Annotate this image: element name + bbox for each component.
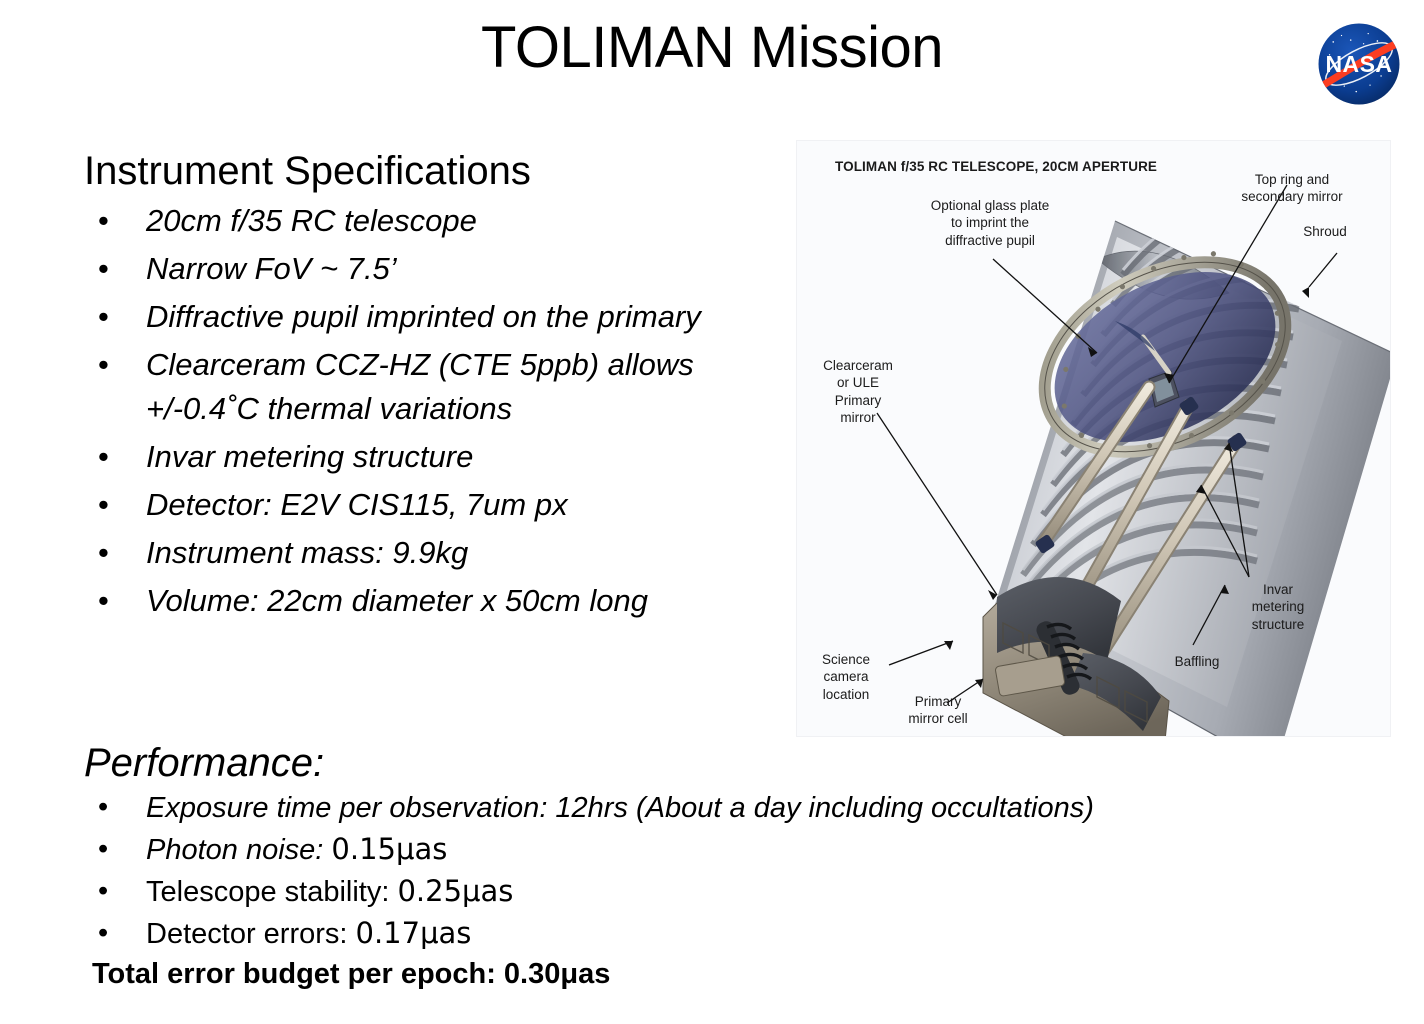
list-item: • Exposure time per observation: 12hrs (… xyxy=(84,787,1264,828)
list-item-label: Narrow FoV ~ 7.5’ xyxy=(146,251,397,286)
total-error-budget: Total error budget per epoch: 0.30μas xyxy=(84,958,1264,991)
list-item-label: 20cm f/35 RC telescope xyxy=(146,203,477,238)
bullet-glyph: • xyxy=(98,579,109,623)
bullet-glyph: • xyxy=(98,295,109,339)
bullet-glyph: • xyxy=(98,871,108,911)
label-primary-mirror-cell: Primary mirror cell xyxy=(893,693,983,728)
list-item: • Photon noise: 0.15μas xyxy=(84,829,1264,870)
list-item: • Volume: 22cm diameter x 50cm long xyxy=(84,579,744,623)
bullet-glyph: • xyxy=(98,787,108,827)
list-item: • Invar metering structure xyxy=(84,435,744,479)
bullet-glyph: • xyxy=(98,435,109,479)
bullet-glyph: • xyxy=(98,199,109,243)
specs-bullet-list: • 20cm f/35 RC telescope • Narrow FoV ~ … xyxy=(84,199,744,623)
list-item-label: Detector errors: xyxy=(146,918,356,950)
bullet-glyph: • xyxy=(98,247,109,291)
label-shroud: Shroud xyxy=(1285,223,1365,240)
bullet-glyph: • xyxy=(98,483,109,527)
bullet-glyph: • xyxy=(98,343,109,387)
list-item-label: Detector: E2V CIS115, 7um px xyxy=(146,487,568,522)
performance-section: Performance: • Exposure time per observa… xyxy=(84,742,1264,991)
telescope-figure-panel: TOLIMAN f/35 RC TELESCOPE, 20CM APERTURE xyxy=(796,140,1391,737)
list-item-label: Exposure time per observation: 12hrs (Ab… xyxy=(146,792,1094,824)
list-item: • Clearceram CCZ-HZ (CTE 5ppb) allows +/… xyxy=(84,343,744,431)
performance-bullet-list: • Exposure time per observation: 12hrs (… xyxy=(84,787,1264,954)
label-baffling: Baffling xyxy=(1157,653,1237,670)
list-item: • Detector errors: 0.17μas xyxy=(84,913,1264,954)
performance-heading: Performance: xyxy=(84,742,1264,785)
list-item-label: Clearceram CCZ-HZ (CTE 5ppb) allows +/-0… xyxy=(146,347,694,426)
list-item: • Narrow FoV ~ 7.5’ xyxy=(84,247,744,291)
slide-root: TOLIMAN Mission xyxy=(0,0,1424,1024)
list-item-label: Volume: 22cm diameter x 50cm long xyxy=(146,583,648,618)
list-item-label: Telescope stability: xyxy=(146,876,397,908)
list-item-label: Photon noise: xyxy=(146,834,331,866)
label-optional-glass-plate: Optional glass plate to imprint the diff… xyxy=(915,197,1065,249)
instrument-specifications-section: Instrument Specifications • 20cm f/35 RC… xyxy=(84,150,744,627)
label-invar-metering-structure: Invar metering structure xyxy=(1237,581,1319,633)
page-title: TOLIMAN Mission xyxy=(0,18,1424,79)
list-item-value: 0.15μas xyxy=(331,832,447,866)
list-item: • Telescope stability: 0.25μas xyxy=(84,871,1264,912)
label-primary-mirror: Clearceram or ULE Primary mirror xyxy=(813,357,903,426)
nasa-wordmark: NASA xyxy=(1325,51,1392,77)
label-top-ring-secondary-mirror: Top ring and secondary mirror xyxy=(1227,171,1357,206)
list-item-label: Instrument mass: 9.9kg xyxy=(146,535,468,570)
bullet-glyph: • xyxy=(98,829,108,869)
bullet-glyph: • xyxy=(98,531,109,575)
nasa-logo: NASA xyxy=(1313,18,1405,110)
nasa-meatball-icon: NASA xyxy=(1313,18,1405,110)
bullet-glyph: • xyxy=(98,913,108,953)
list-item-label: Diffractive pupil imprinted on the prima… xyxy=(146,299,701,334)
label-science-camera-location: Science camera location xyxy=(809,651,883,703)
specs-heading: Instrument Specifications xyxy=(84,150,744,193)
list-item-value: 0.17μas xyxy=(356,916,472,950)
list-item-label: Invar metering structure xyxy=(146,439,473,474)
list-item-value: 0.25μas xyxy=(397,874,513,908)
list-item: • 20cm f/35 RC telescope xyxy=(84,199,744,243)
list-item: • Instrument mass: 9.9kg xyxy=(84,531,744,575)
list-item: • Detector: E2V CIS115, 7um px xyxy=(84,483,744,527)
list-item: • Diffractive pupil imprinted on the pri… xyxy=(84,295,744,339)
